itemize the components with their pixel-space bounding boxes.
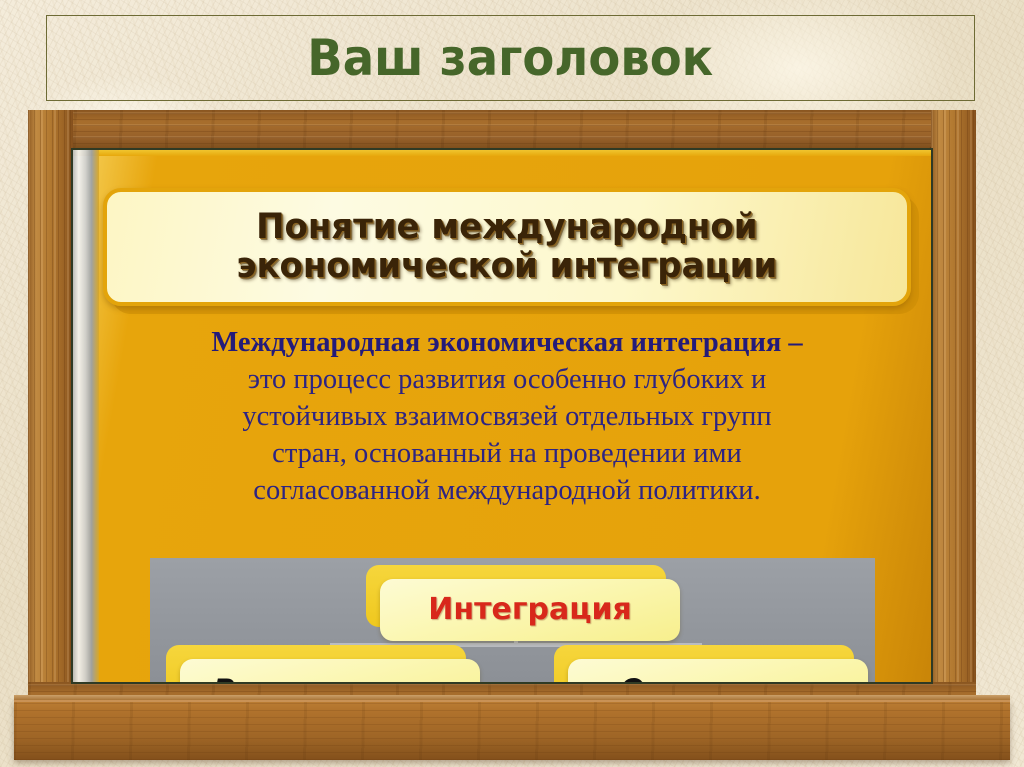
definition-line-5: согласованной международной политики. — [115, 472, 899, 509]
artwork-left-bevel — [73, 150, 99, 682]
diagram-node-regional[interactable]: Региональная — [166, 645, 466, 682]
definition-line-1: Международная экономическая интеграция – — [115, 324, 899, 361]
concept-title-line-2: экономической интеграции — [237, 247, 778, 286]
frame-right-stile — [931, 110, 976, 722]
diagram-node-sectoral-label: Отраслевая — [620, 676, 816, 683]
slide-title-box[interactable]: Ваш заголовок — [46, 15, 975, 101]
concept-plaque[interactable]: Понятие международной экономической инте… — [103, 188, 911, 306]
frame-left-stile — [28, 110, 73, 722]
frame-top-rail — [28, 110, 976, 150]
node-front-plate: Интеграция — [380, 579, 680, 641]
wooden-picture-frame: Понятие международной экономической инте… — [28, 110, 976, 722]
slide-canvas: Ваш заголовок Понятие международной экон… — [0, 0, 1024, 767]
slide-artwork: Понятие международной экономической инте… — [73, 150, 931, 682]
artwork-top-stripe — [73, 150, 931, 156]
diagram-node-regional-label: Региональная — [213, 676, 447, 683]
concept-title-line-1: Понятие международной — [237, 208, 778, 247]
diagram-node-integration[interactable]: Интеграция — [366, 565, 666, 627]
definition-line-4: стран, основанный на проведении ими — [115, 435, 899, 472]
node-front-plate: Отраслевая — [568, 659, 868, 682]
diagram-node-sectoral[interactable]: Отраслевая — [554, 645, 854, 682]
node-front-plate: Региональная — [180, 659, 480, 682]
page-title: Ваш заголовок — [308, 33, 714, 83]
wooden-shelf — [14, 700, 1010, 760]
definition-line-3: устойчивых взаимосвязей отдельных групп — [115, 398, 899, 435]
diagram-node-integration-label: Интеграция — [428, 595, 631, 625]
definition-paragraph: Международная экономическая интеграция –… — [101, 316, 913, 509]
definition-line-2: это процесс развития особенно глубоких и — [115, 361, 899, 398]
concept-title: Понятие международной экономической инте… — [237, 208, 778, 286]
integration-diagram-panel: Интеграция Региональная Отраслевая — [150, 558, 875, 682]
